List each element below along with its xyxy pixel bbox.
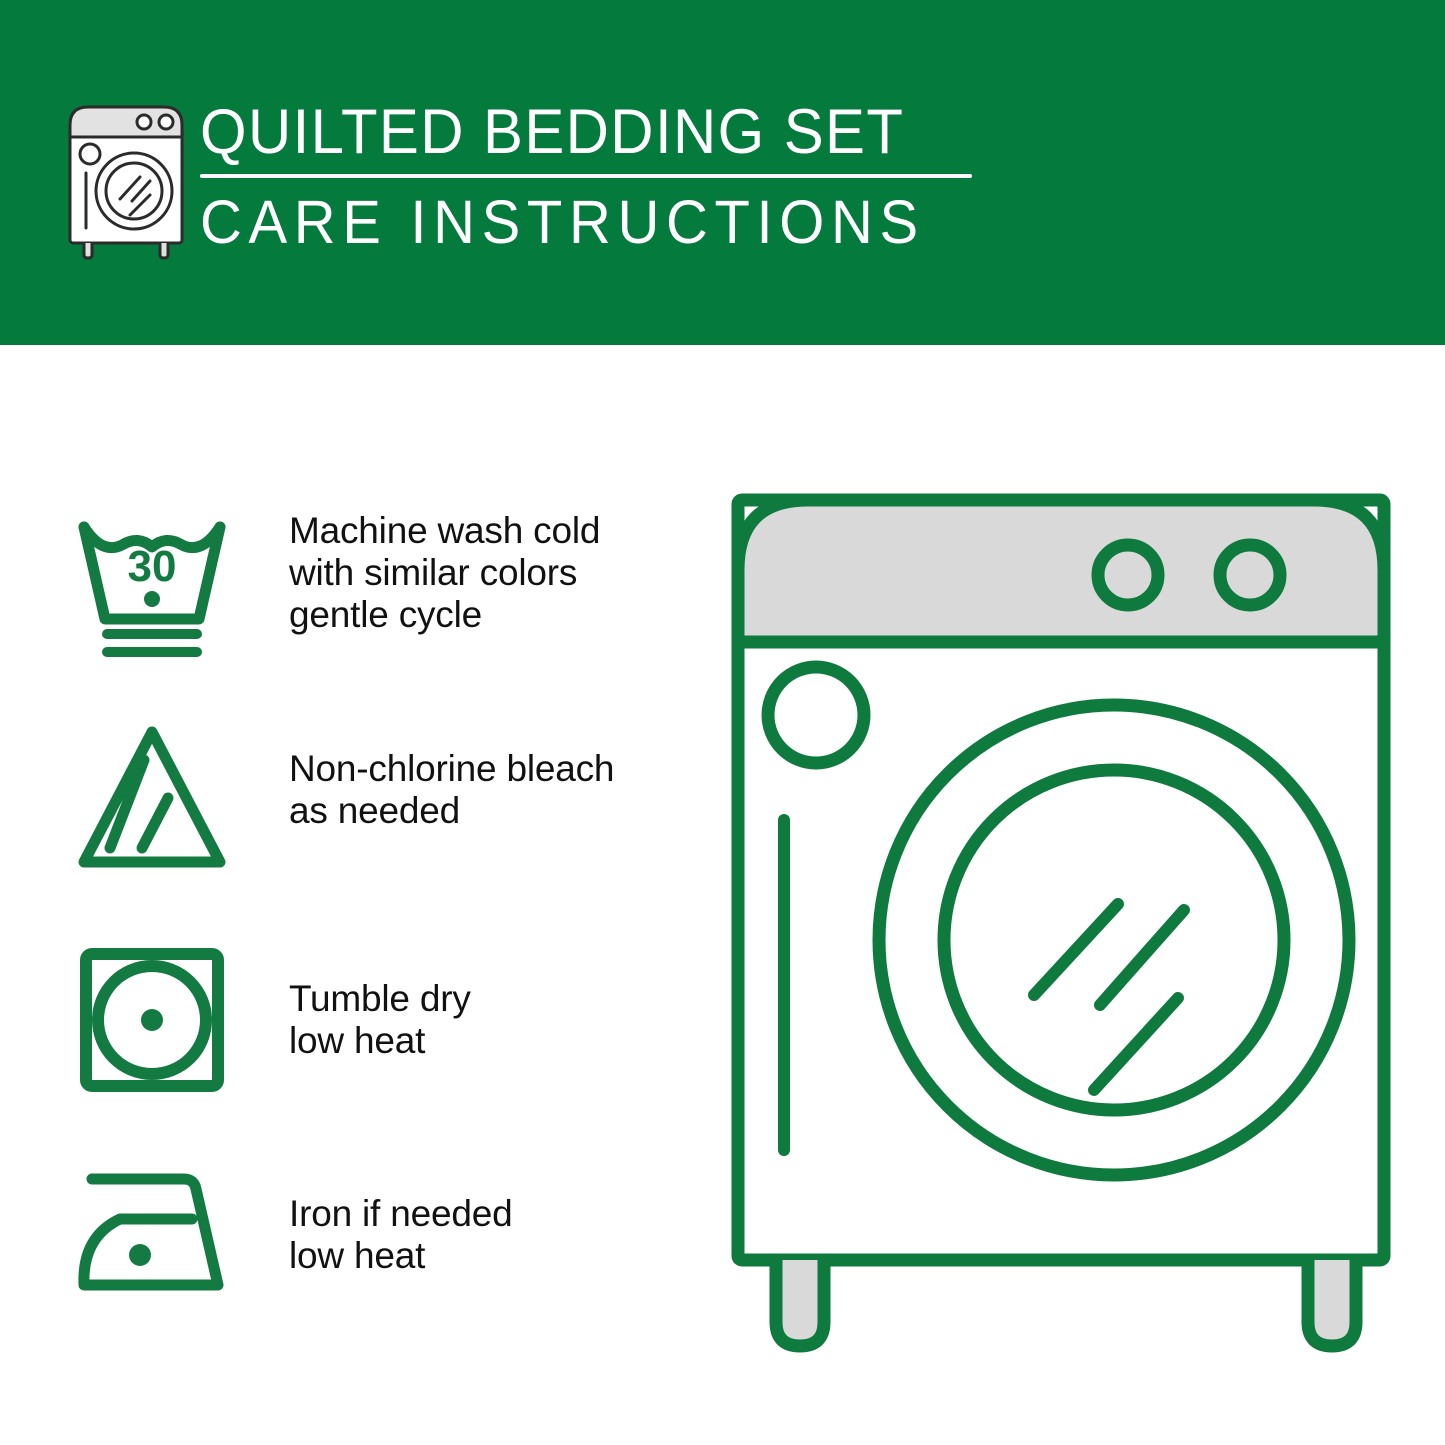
care-row-iron: Iron if needed low heat xyxy=(0,1145,700,1335)
header-title-block: QUILTED BEDDING SET CARE INSTRUCTIONS xyxy=(200,96,990,276)
iron-low-heat-icon xyxy=(72,1157,232,1317)
care-line: Non-chlorine bleach xyxy=(289,748,614,790)
care-row-machine-wash: 30 Machine wash cold with similar colors… xyxy=(0,495,700,685)
care-line: Machine wash cold xyxy=(289,510,600,552)
care-text-iron: Iron if needed low heat xyxy=(289,1193,512,1277)
washing-machine-icon xyxy=(62,103,190,258)
care-line: with similar colors xyxy=(289,552,600,594)
care-text-tumble-dry: Tumble dry low heat xyxy=(289,978,471,1062)
care-text-machine-wash: Machine wash cold with similar colors ge… xyxy=(289,510,600,636)
non-chlorine-bleach-triangle-icon xyxy=(72,720,232,880)
care-text-bleach: Non-chlorine bleach as needed xyxy=(289,748,614,832)
wash-tub-30-gentle-icon: 30 xyxy=(72,503,232,663)
care-line: gentle cycle xyxy=(289,594,600,636)
care-instructions-page: QUILTED BEDDING SET CARE INSTRUCTIONS xyxy=(0,0,1445,1445)
care-line: Tumble dry xyxy=(289,978,471,1020)
care-instruction-list: 30 Machine wash cold with similar colors… xyxy=(0,345,700,1445)
care-line: low heat xyxy=(289,1235,512,1277)
care-row-bleach: Non-chlorine bleach as needed xyxy=(0,710,700,900)
tumble-dry-low-heat-icon xyxy=(72,940,232,1100)
care-row-tumble-dry: Tumble dry low heat xyxy=(0,930,700,1120)
header-banner: QUILTED BEDDING SET CARE INSTRUCTIONS xyxy=(0,0,1445,345)
care-line: Iron if needed xyxy=(289,1193,512,1235)
care-line: as needed xyxy=(289,790,614,832)
care-line: low heat xyxy=(289,1020,471,1062)
front-load-washing-machine-illustration xyxy=(716,460,1416,1360)
page-subtitle: CARE INSTRUCTIONS xyxy=(200,188,951,256)
wash-temperature-value: 30 xyxy=(128,542,177,591)
page-title: QUILTED BEDDING SET xyxy=(200,96,951,168)
title-divider xyxy=(200,174,972,178)
